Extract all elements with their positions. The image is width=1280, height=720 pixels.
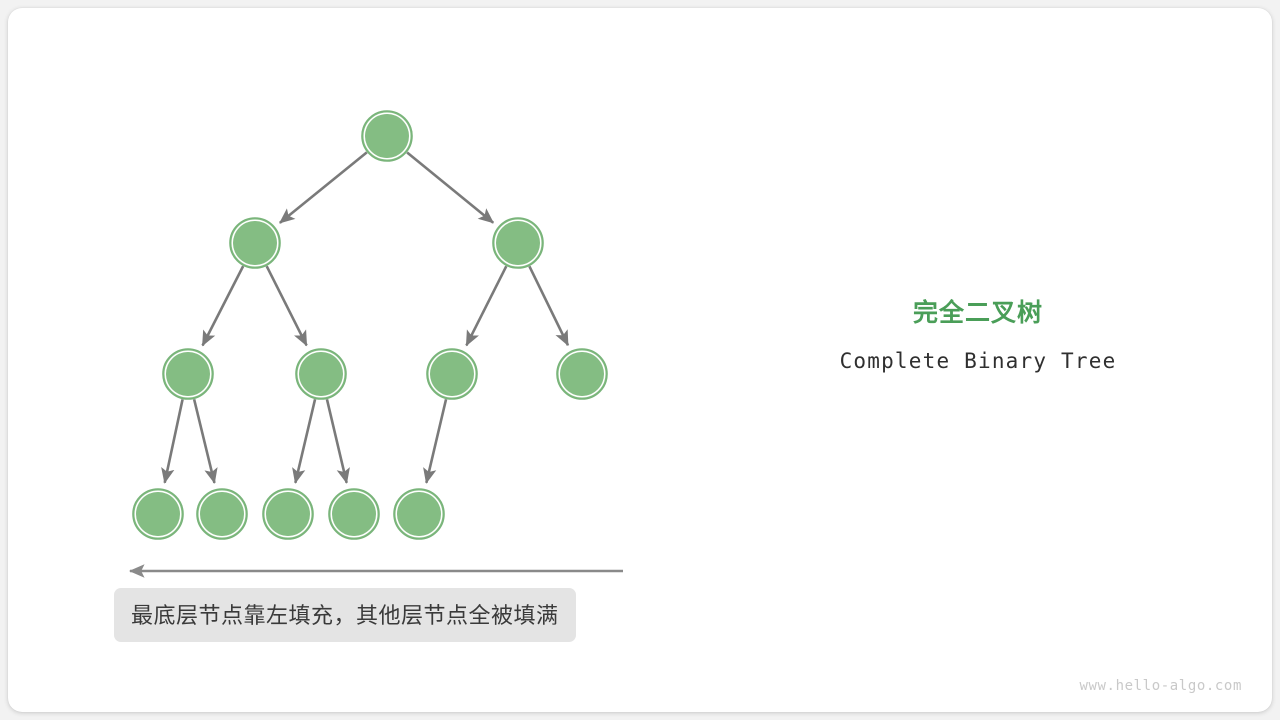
tree-edge (203, 266, 244, 345)
tree-node (329, 489, 379, 539)
tree-node (197, 489, 247, 539)
tree-edge (426, 399, 446, 483)
watermark-text: www.hello-algo.com (1079, 678, 1242, 694)
tree-edge (466, 266, 506, 345)
tree-node (230, 218, 280, 268)
tree-node-body (332, 492, 376, 536)
page-subtitle: Complete Binary Tree (768, 346, 1188, 376)
tree-node-body (397, 492, 441, 536)
tree-node-body (365, 114, 409, 158)
tree-node (557, 349, 607, 399)
tree-node-body (266, 492, 310, 536)
tree-node (263, 489, 313, 539)
caption-text: 最底层节点靠左填充，其他层节点全被填满 (131, 603, 559, 628)
diagram-card: 最底层节点靠左填充，其他层节点全被填满 完全二叉树 Complete Binar… (8, 8, 1272, 712)
tree-edge (165, 399, 183, 482)
tree-node-body (560, 352, 604, 396)
title-block: 完全二叉树 Complete Binary Tree (768, 296, 1188, 376)
tree-edge (295, 399, 315, 483)
tree-node (427, 349, 477, 399)
screenshot-stage: 最底层节点靠左填充，其他层节点全被填满 完全二叉树 Complete Binar… (0, 0, 1280, 720)
tree-edge (407, 152, 493, 222)
tree-node-body (430, 352, 474, 396)
tree-node (133, 489, 183, 539)
tree-node (163, 349, 213, 399)
tree-node-body (136, 492, 180, 536)
tree-edge-layer (165, 152, 568, 483)
tree-node (394, 489, 444, 539)
tree-node-body (233, 221, 277, 265)
tree-node-body (200, 492, 244, 536)
tree-edge (280, 152, 367, 222)
tree-node (296, 349, 346, 399)
caption-badge: 最底层节点靠左填充，其他层节点全被填满 (114, 588, 576, 642)
tree-node (362, 111, 412, 161)
tree-edge (267, 266, 307, 345)
tree-node-body (496, 221, 540, 265)
tree-edge (194, 399, 214, 483)
tree-edge (327, 399, 347, 483)
page-title: 完全二叉树 (768, 296, 1188, 330)
tree-node-body (299, 352, 343, 396)
tree-node (493, 218, 543, 268)
tree-node-layer (133, 111, 607, 539)
tree-node-body (166, 352, 210, 396)
tree-edge (529, 266, 568, 345)
